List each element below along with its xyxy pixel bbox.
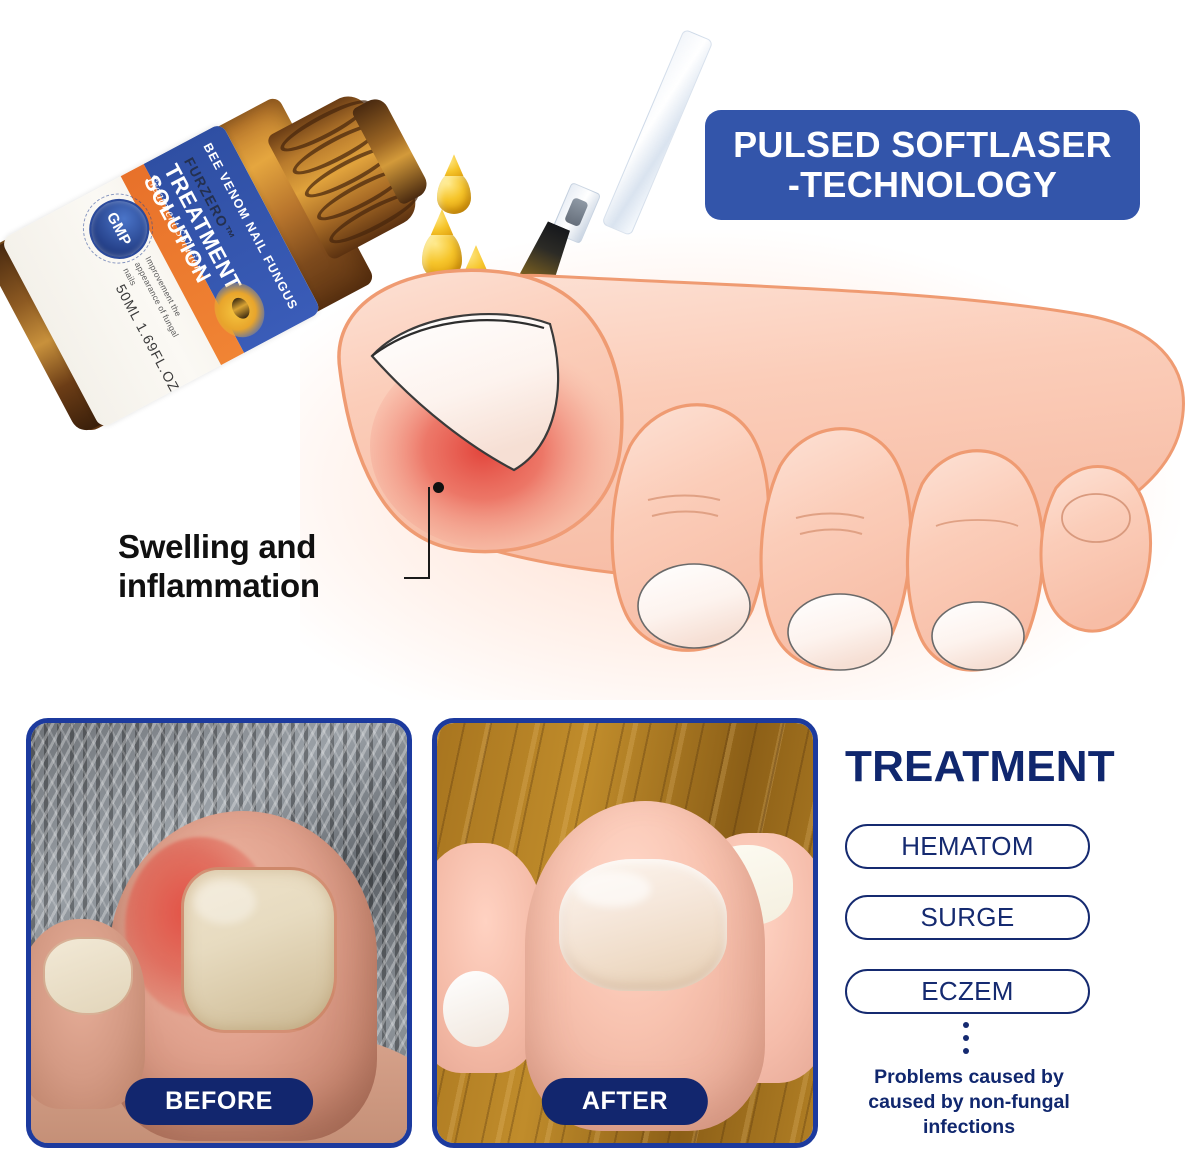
before-infected-nail — [181, 867, 337, 1033]
banner-line-2: -TECHNOLOGY — [788, 165, 1057, 205]
caption-line-3: infections — [838, 1115, 1100, 1140]
annotation-line-1: Swelling and — [118, 528, 418, 567]
brush-handle — [601, 29, 713, 237]
before-second-toe — [26, 919, 145, 1109]
foot-illustration — [300, 250, 1200, 700]
swelling-annotation: Swelling and inflammation — [118, 528, 418, 606]
oil-drop-icon — [437, 172, 471, 214]
caption-line-2: caused by non-fungal — [838, 1090, 1100, 1115]
before-second-toe-nail — [43, 937, 133, 1015]
annotation-leader-line — [428, 487, 430, 579]
treatment-heading: TREATMENT — [845, 742, 1115, 792]
after-label-tag: AFTER — [542, 1078, 708, 1125]
after-healed-nail — [559, 859, 727, 991]
caption-line-1: Problems caused by — [838, 1065, 1100, 1090]
ellipsis-dot — [963, 1048, 969, 1054]
treatment-item-surge[interactable]: SURGE — [845, 895, 1090, 940]
before-photo-panel: BEFORE — [26, 718, 412, 1148]
after-left-toe-nail — [443, 971, 509, 1047]
advertisement-canvas: PULSED SOFTLASER -TECHNOLOGY FURZERO™ BE… — [0, 0, 1200, 1166]
banner-line-1: PULSED SOFTLASER — [733, 125, 1112, 165]
annotation-line-2: inflammation — [118, 567, 418, 606]
ellipsis-dot — [963, 1022, 969, 1028]
treatment-caption: Problems caused by caused by non-fungal … — [838, 1065, 1100, 1140]
fourth-toe-nail — [932, 602, 1024, 670]
ellipsis-dot — [963, 1035, 969, 1041]
treatment-list-ellipsis-icon — [963, 1022, 969, 1054]
little-toe — [1041, 466, 1150, 631]
third-toe-nail — [788, 594, 892, 670]
treatment-item-hematom[interactable]: HEMATOM — [845, 824, 1090, 869]
pulsed-softlaser-banner: PULSED SOFTLASER -TECHNOLOGY — [705, 110, 1140, 220]
annotation-pointer-dot — [433, 482, 444, 493]
treatment-item-eczem[interactable]: ECZEM — [845, 969, 1090, 1014]
second-toe-nail — [638, 564, 750, 648]
after-photo-panel: AFTER — [432, 718, 818, 1148]
before-label-tag: BEFORE — [125, 1078, 313, 1125]
